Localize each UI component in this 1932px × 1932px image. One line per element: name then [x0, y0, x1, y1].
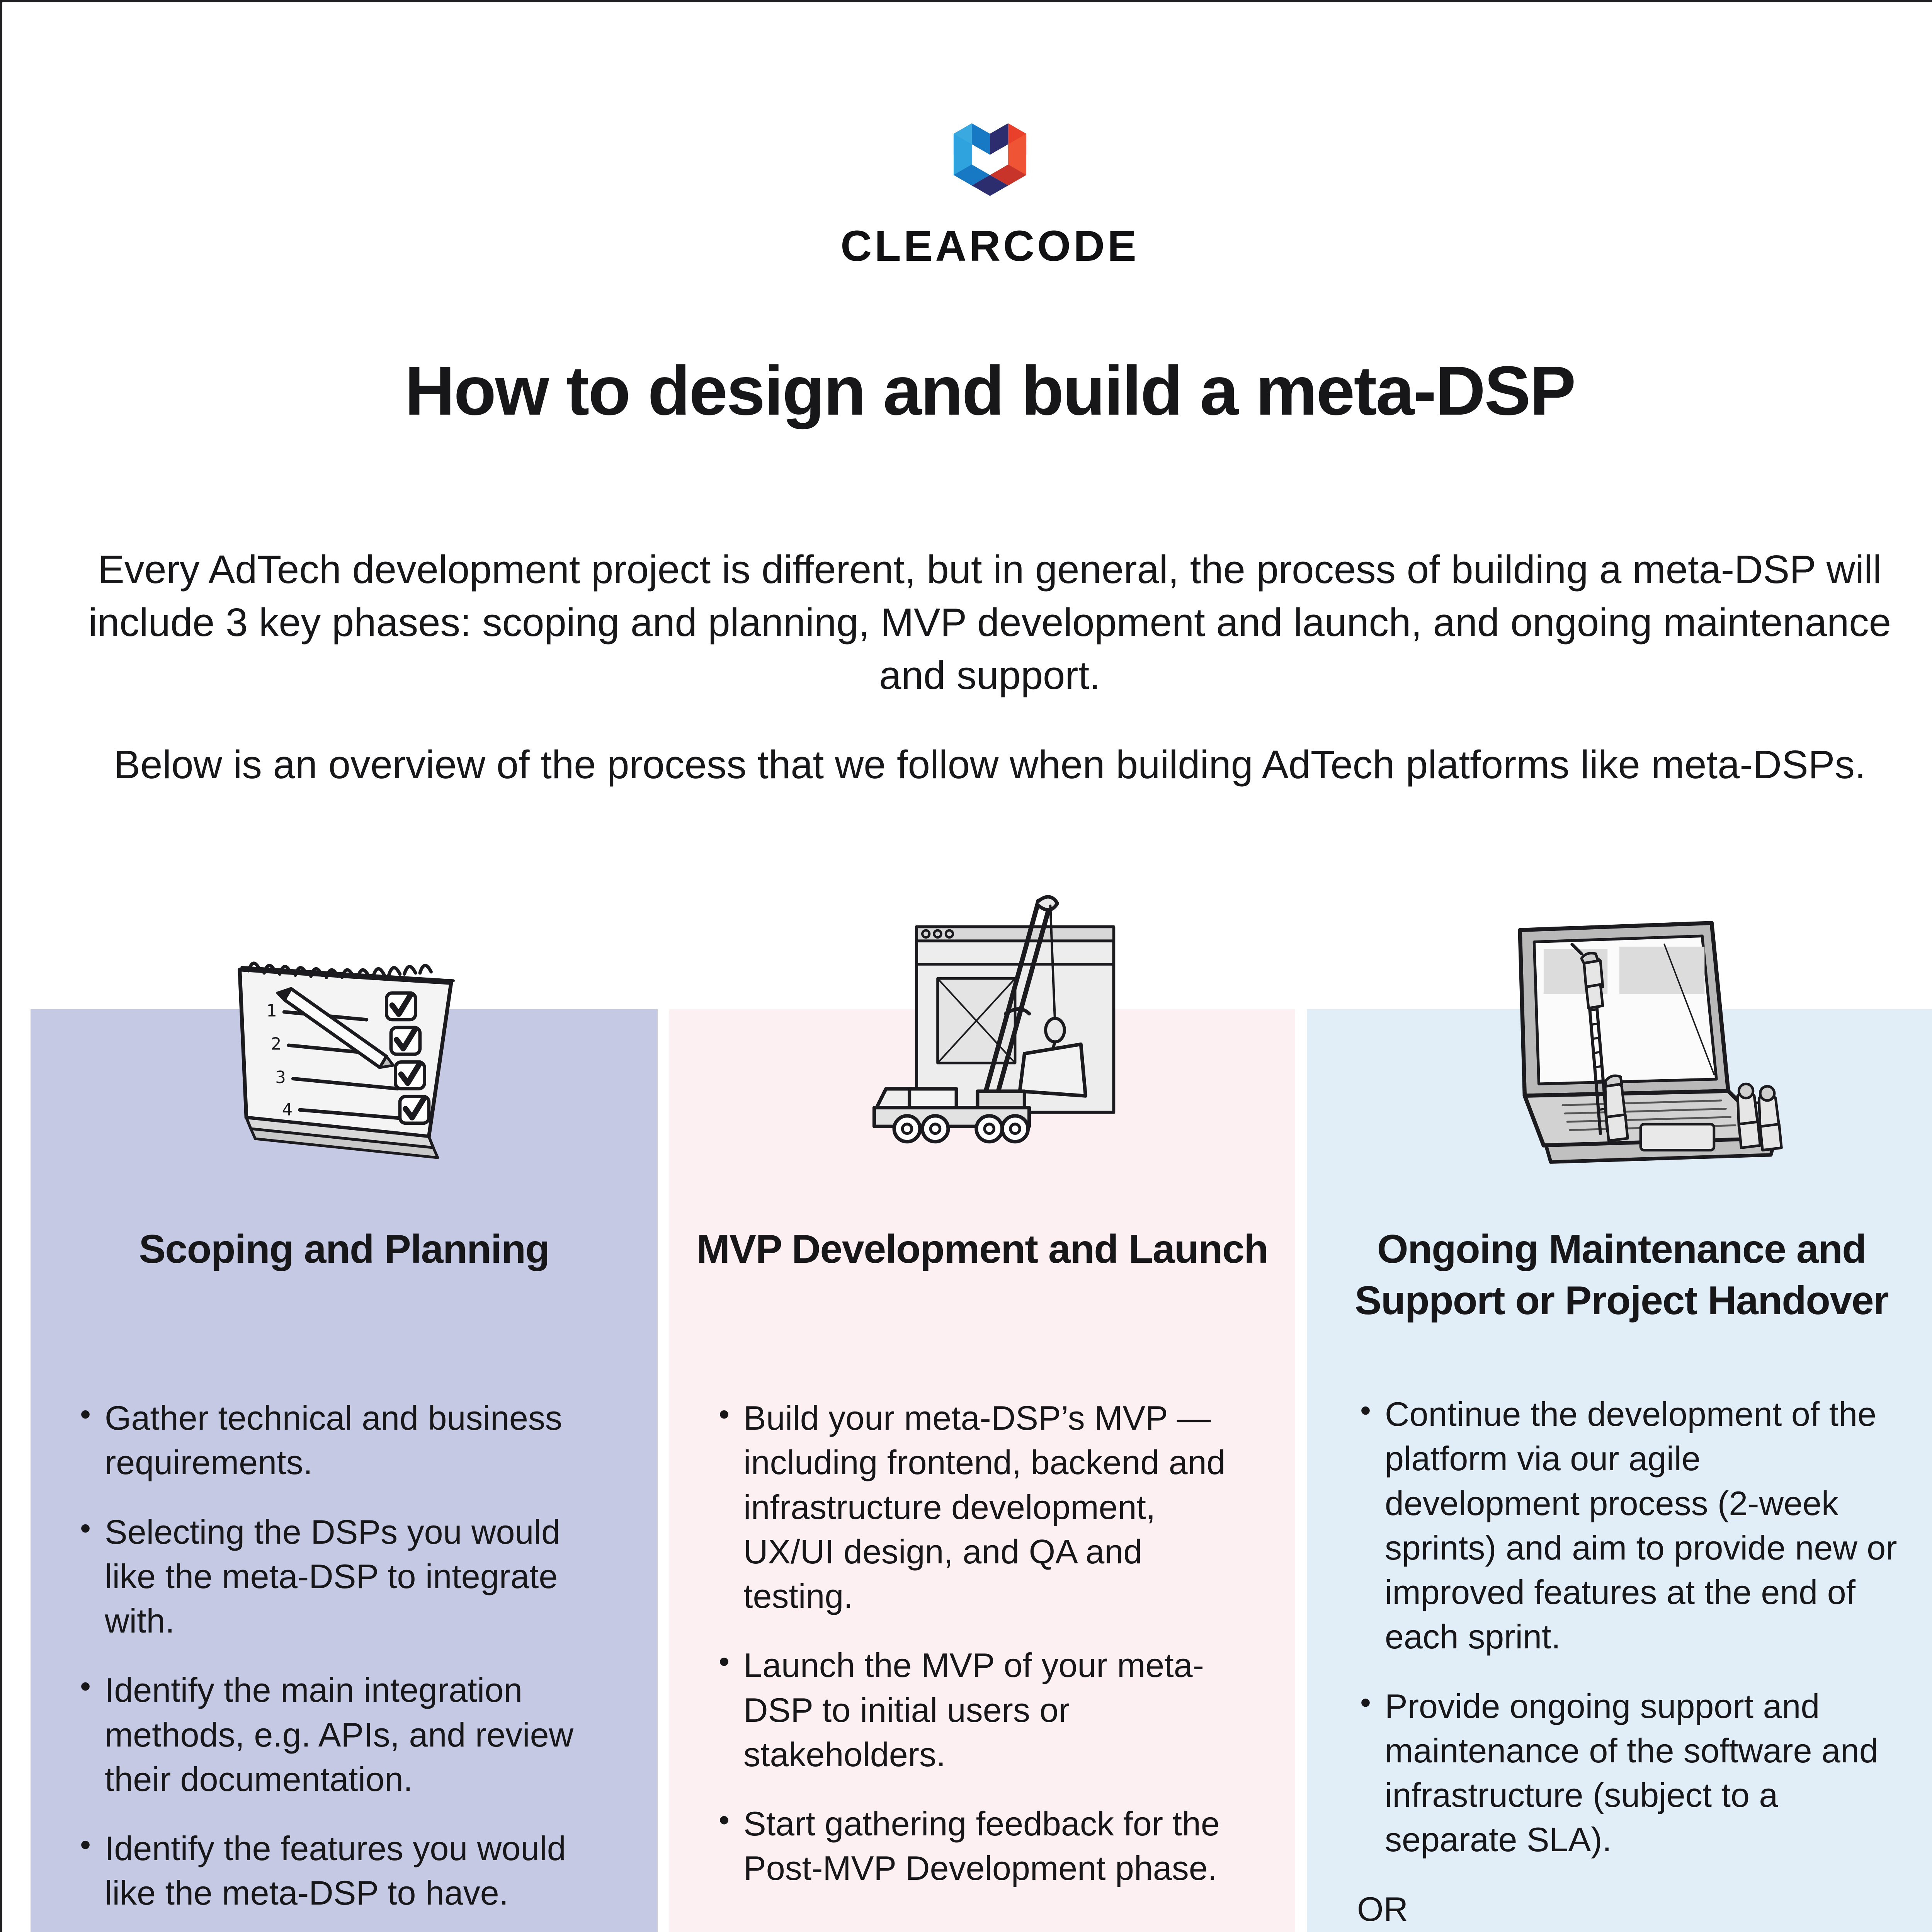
column-list-mvp: Build your meta-DSP’s MVP — including fr… — [716, 1396, 1253, 1915]
list-item: Continue the development of the platform… — [1357, 1392, 1898, 1659]
phase-column-mvp-development-and-launch: MVP Development and Launch Build your me… — [669, 1009, 1295, 1932]
column-heading-ongoing: Ongoing Maintenance and Support or Proje… — [1330, 1224, 1913, 1327]
svg-text:2: 2 — [270, 1035, 281, 1054]
brand-header: CLEARCODE — [2, 114, 1932, 271]
column-list-scoping: Gather technical and business requiremen… — [77, 1396, 615, 1932]
phase-column-ongoing-maintenance-and-support: Ongoing Maintenance and Support or Proje… — [1307, 1009, 1932, 1932]
intro-paragraph-2: Below is an overview of the process that… — [74, 738, 1905, 791]
page-title: How to design and build a meta-DSP — [2, 352, 1932, 430]
notepad-checklist-pen-illustration-icon: 12 34 — [197, 889, 491, 1168]
list-item: Start gathering feedback for the Post-MV… — [716, 1801, 1253, 1891]
brand-wordmark: CLEARCODE — [2, 221, 1932, 271]
phase-columns: 12 34 — [31, 1009, 1932, 1932]
column-list-ongoing: Continue the development of the platform… — [1357, 1392, 1898, 1932]
list-item: Identify the main integration methods, e… — [77, 1668, 615, 1801]
infographic-page: CLEARCODE How to design and build a meta… — [0, 0, 1932, 1932]
laptop-workers-ladder-illustration-icon — [1432, 870, 1811, 1179]
svg-text:4: 4 — [282, 1100, 292, 1120]
svg-text:1: 1 — [266, 1001, 277, 1020]
list-item: Provide ongoing support and maintenance … — [1357, 1684, 1898, 1862]
column-heading-mvp: MVP Development and Launch — [692, 1224, 1272, 1275]
clearcode-hexagon-logo-icon — [949, 114, 1031, 203]
list-item: Launch the MVP of your meta-DSP to initi… — [716, 1643, 1253, 1777]
phase-column-scoping-and-planning: 12 34 — [31, 1009, 658, 1932]
svg-text:3: 3 — [275, 1068, 286, 1087]
intro-paragraph-1: Every AdTech development project is diff… — [74, 543, 1905, 702]
column-heading-scoping: Scoping and Planning — [54, 1224, 634, 1275]
list-item: Gather technical and business requiremen… — [77, 1396, 615, 1485]
list-item: Build your meta-DSP’s MVP — including fr… — [716, 1396, 1253, 1618]
list-item: Identify the features you would like the… — [77, 1826, 615, 1915]
crane-truck-browser-window-illustration-icon — [830, 847, 1135, 1152]
list-item-or-separator: OR — [1357, 1887, 1898, 1931]
list-item: Selecting the DSPs you would like the me… — [77, 1510, 615, 1643]
